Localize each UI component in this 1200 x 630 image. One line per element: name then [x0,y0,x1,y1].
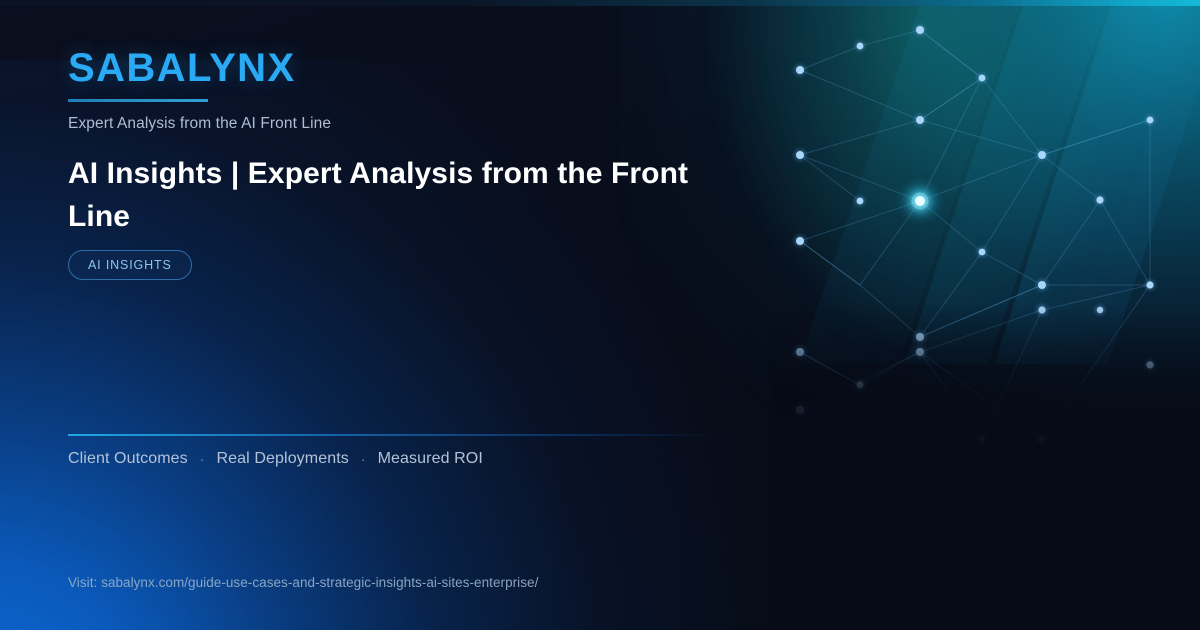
kicker-separator-0: · [200,451,205,467]
status-badge-label: AI INSIGHTS [88,258,172,272]
brand-block: SABALYNX Expert Analysis from the AI Fro… [68,48,331,133]
background-right-fade [770,0,1200,630]
status-badge: AI INSIGHTS [68,250,192,280]
kicker-list: Client Outcomes · Real Deployments · Mea… [68,450,483,468]
brand-name: SABALYNX [68,48,331,88]
brand-tagline: Expert Analysis from the AI Front Line [68,115,331,133]
content-column: SABALYNX Expert Analysis from the AI Fro… [68,0,768,630]
kicker-item-2: Measured ROI [378,450,483,468]
page-title: AI Insights | Expert Analysis from the F… [68,153,758,238]
visit-url: Visit: sabalynx.com/guide-use-cases-and-… [68,575,538,590]
brand-underline [68,99,208,102]
kicker-separator-1: · [361,451,366,467]
kicker-item-1: Real Deployments [217,450,349,468]
kicker-item-0: Client Outcomes [68,450,188,468]
og-card: SABALYNX Expert Analysis from the AI Fro… [0,0,1200,630]
footer-divider [68,434,712,436]
